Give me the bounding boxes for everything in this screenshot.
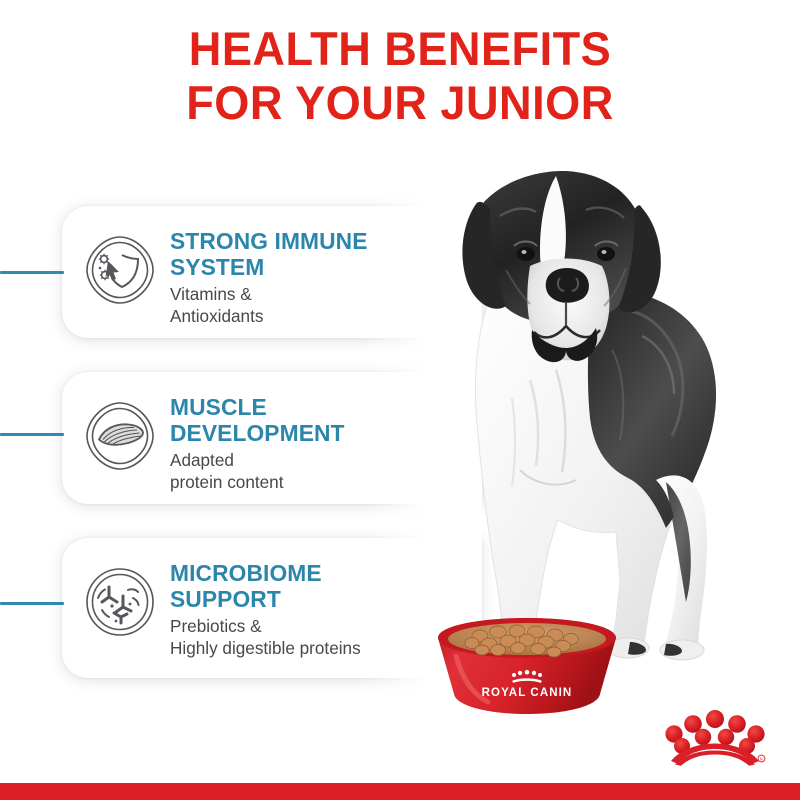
food-bowl: ROYAL CANIN [432, 612, 622, 720]
benefit-text-immune: STRONG IMMUNE SYSTEM Vitamins & Antioxid… [170, 220, 482, 327]
immune-shield-icon [78, 228, 162, 312]
benefit-heading: MUSCLE DEVELOPMENT [170, 394, 473, 446]
bowl-brand-text: ROYAL CANIN [482, 687, 573, 699]
benefit-subtitle: Vitamins & Antioxidants [170, 283, 476, 327]
connector-line-2 [0, 433, 64, 436]
benefit-heading: MICROBIOME SUPPORT [170, 560, 473, 612]
microbiome-petri-icon [78, 560, 162, 644]
bottom-red-bar [0, 783, 800, 800]
registered-mark: R [760, 757, 763, 762]
benefit-subtitle: Adapted protein content [170, 449, 476, 493]
benefit-text-muscle: MUSCLE DEVELOPMENT Adapted protein conte… [170, 386, 482, 493]
connector-line-1 [0, 271, 64, 274]
promo-banner: HEALTH BENEFITS FOR YOUR JUNIOR [0, 0, 800, 800]
benefit-card-muscle: MUSCLE DEVELOPMENT Adapted protein conte… [62, 372, 482, 504]
connector-line-3 [0, 602, 64, 605]
benefit-heading: STRONG IMMUNE SYSTEM [170, 228, 473, 280]
benefit-card-microbiome: MICROBIOME SUPPORT Prebiotics & Highly d… [62, 538, 482, 678]
benefit-card-immune: STRONG IMMUNE SYSTEM Vitamins & Antioxid… [62, 206, 482, 338]
page-title-line-2: FOR YOUR JUNIOR [16, 76, 784, 130]
benefit-subtitle: Prebiotics & Highly digestible proteins [170, 615, 476, 659]
page-title-line-1: HEALTH BENEFITS [16, 22, 784, 76]
page-title: HEALTH BENEFITS FOR YOUR JUNIOR [16, 22, 784, 130]
royal-canin-crown-logo: R [663, 702, 767, 766]
muscle-fiber-icon [78, 394, 162, 478]
